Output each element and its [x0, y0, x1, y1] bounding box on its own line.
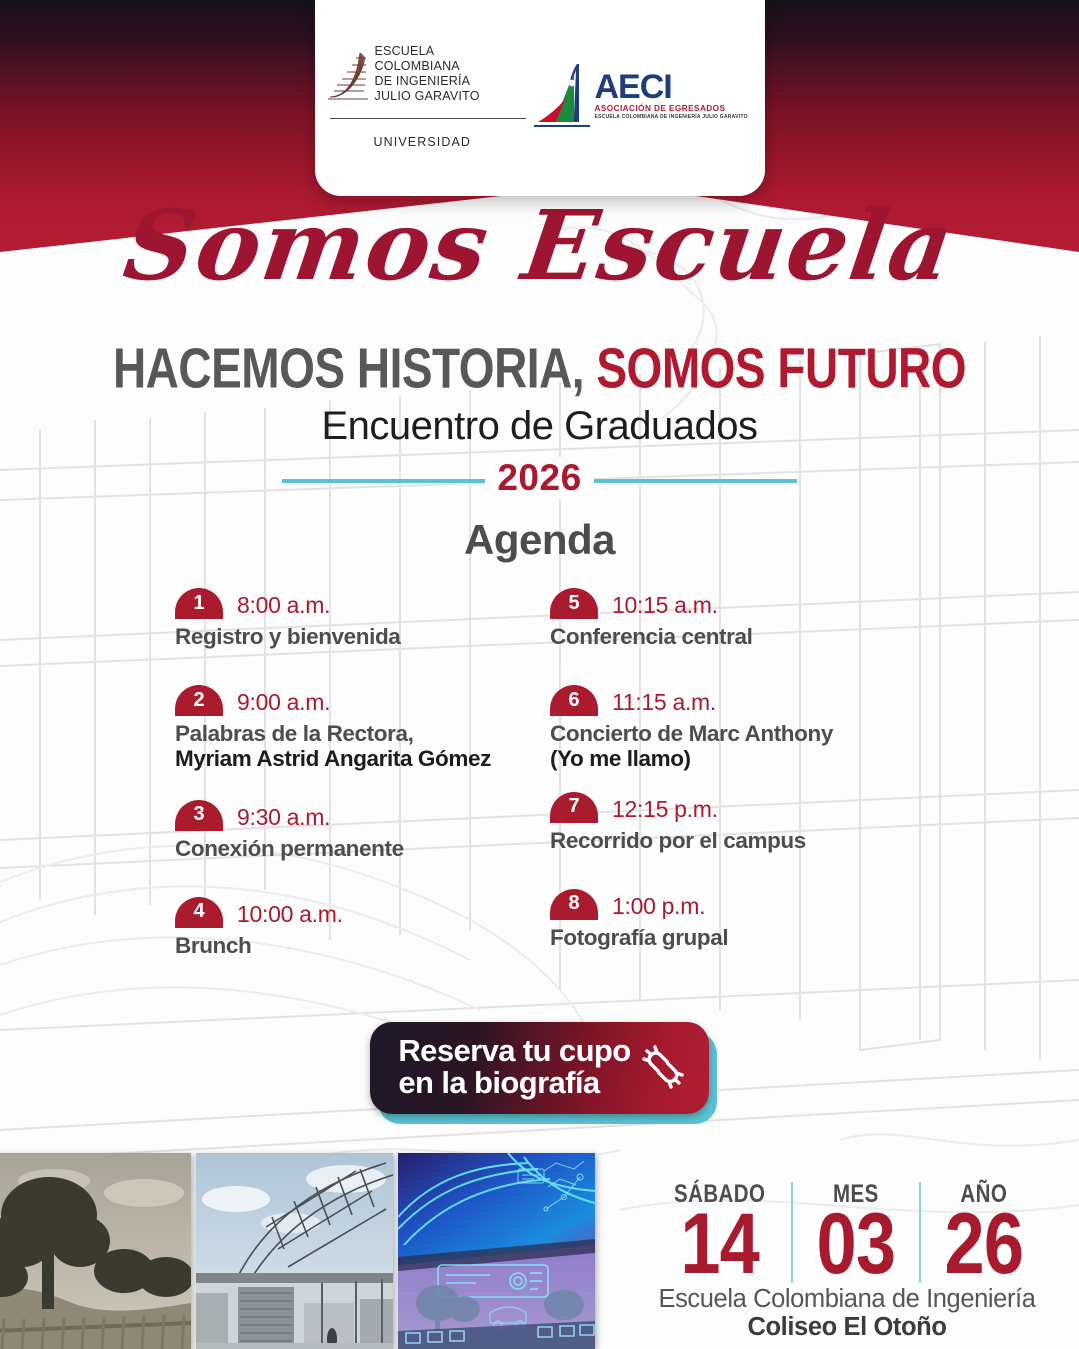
- agenda-column-right: 5 10:15 a.m. Conferencia central 6 11:15…: [550, 588, 909, 976]
- event-date-block: SÁBADO 14 MES 03 AÑO 26 Escuela Colombia…: [637, 1182, 1057, 1341]
- agenda-number-badge: 6: [550, 685, 598, 716]
- cta-label: Reserva tu cupo en la biografía: [398, 1035, 630, 1099]
- agenda-time: 10:00 a.m.: [237, 903, 343, 928]
- agenda-description: Fotografía grupal: [550, 925, 909, 950]
- agenda-description: Recorrido por el campus: [550, 828, 909, 853]
- photo-strip: [0, 1153, 595, 1349]
- date-year-value: 26: [944, 1207, 1023, 1283]
- date-year-column: AÑO 26: [919, 1182, 1047, 1283]
- event-subtitle: Encuentro de Graduados: [0, 404, 1079, 449]
- agenda-item: 6 11:15 a.m. Concierto de Marc Anthony (…: [550, 685, 909, 771]
- agenda-description: Concierto de Marc Anthony (Yo me llamo): [550, 721, 909, 771]
- aeci-figure-mark: [534, 60, 590, 132]
- date-day-value: 14: [673, 1207, 767, 1283]
- cta-line-2: en la biografía: [398, 1067, 630, 1099]
- uni-line-3: DE INGENIERÍA: [375, 74, 480, 89]
- agenda-number-badge: 2: [175, 685, 223, 716]
- agenda-number-badge: 3: [175, 800, 223, 831]
- agenda-heading: Agenda: [0, 516, 1079, 564]
- photo-campus-building: [196, 1153, 393, 1349]
- agenda-item: 5 10:15 a.m. Conferencia central: [550, 588, 909, 649]
- agenda-time: 11:15 a.m.: [612, 691, 716, 716]
- aeci-subtitle-1: ASOCIACIÓN DE EGRESADOS: [595, 104, 726, 113]
- link-chain-icon: [639, 1043, 687, 1091]
- poster-canvas: ESCUELA COLOMBIANA DE INGENIERÍA JULIO G…: [0, 0, 1079, 1349]
- university-divider: [330, 118, 526, 119]
- agenda-time: 9:30 a.m.: [237, 806, 330, 831]
- agenda-item: 3 9:30 a.m. Conexión permanente: [175, 800, 534, 861]
- agenda-description: Conexión permanente: [175, 836, 534, 861]
- agenda-description-line2: (Yo me llamo): [550, 746, 909, 771]
- aeci-subtitle-2: ESCUELA COLOMBIANA DE INGENIERÍA JULIO G…: [595, 114, 748, 120]
- event-year: 2026: [485, 457, 593, 499]
- agenda-description-line1: Concierto de Marc Anthony: [550, 721, 833, 746]
- agenda-description: Palabras de la Rectora, Myriam Astrid An…: [175, 721, 534, 771]
- photo-campus-tree-sepia: [0, 1153, 191, 1349]
- agenda-item: 1 8:00 a.m. Registro y bienvenida: [175, 588, 534, 649]
- cta-line-1: Reserva tu cupo: [398, 1033, 630, 1068]
- photo-campus-futuristic: [398, 1153, 595, 1349]
- agenda-number-badge: 1: [175, 588, 223, 619]
- cta-container: Reserva tu cupo en la biografía: [0, 1022, 1079, 1114]
- agenda-time: 8:00 a.m.: [237, 594, 330, 619]
- script-title: Somos Escuela: [0, 198, 1079, 294]
- agenda-description-line2: Myriam Astrid Angarita Gómez: [175, 746, 534, 771]
- agenda-list: 1 8:00 a.m. Registro y bienvenida 2 9:00…: [0, 588, 1079, 976]
- agenda-column-left: 1 8:00 a.m. Registro y bienvenida 2 9:00…: [175, 588, 534, 976]
- agenda-item: 4 10:00 a.m. Brunch: [175, 897, 534, 958]
- agenda-description: Registro y bienvenida: [175, 624, 534, 649]
- agenda-number-badge: 4: [175, 897, 223, 928]
- venue-place: Coliseo El Otoño: [637, 1313, 1057, 1341]
- agenda-description-line1: Palabras de la Rectora,: [175, 721, 413, 746]
- uni-line-2: COLOMBIANA: [375, 59, 480, 74]
- date-month-value: 03: [816, 1207, 895, 1283]
- agenda-time: 10:15 a.m.: [612, 594, 718, 619]
- aeci-logo: AECI ASOCIACIÓN DE EGRESADOS ESCUELA COL…: [534, 60, 752, 132]
- agenda-item: 2 9:00 a.m. Palabras de la Rectora, Myri…: [175, 685, 534, 771]
- escuela-curve-mark: [328, 47, 368, 105]
- headline-grey: HACEMOS HISTORIA,: [113, 336, 584, 399]
- agenda-number-badge: 7: [550, 792, 598, 823]
- agenda-description: Conferencia central: [550, 624, 909, 649]
- year-row: 2026: [0, 455, 1079, 501]
- university-name-block: ESCUELA COLOMBIANA DE INGENIERÍA JULIO G…: [375, 44, 480, 105]
- aeci-name: AECI: [595, 72, 672, 103]
- agenda-time: 1:00 p.m.: [612, 895, 705, 920]
- agenda-number-badge: 5: [550, 588, 598, 619]
- agenda-description: Brunch: [175, 933, 534, 958]
- agenda-number-badge: 8: [550, 889, 598, 920]
- logo-card: ESCUELA COLOMBIANA DE INGENIERÍA JULIO G…: [315, 0, 765, 196]
- reserve-spot-button[interactable]: Reserva tu cupo en la biografía: [370, 1022, 708, 1114]
- headline-red: SOMOS FUTURO: [596, 336, 966, 399]
- headline: HACEMOS HISTORIA, SOMOS FUTURO: [0, 340, 1079, 396]
- university-subtitle: UNIVERSIDAD: [374, 135, 472, 149]
- date-day-column: SÁBADO 14: [648, 1182, 791, 1283]
- university-logo: ESCUELA COLOMBIANA DE INGENIERÍA JULIO G…: [328, 44, 528, 149]
- agenda-item: 7 12:15 p.m. Recorrido por el campus: [550, 792, 909, 853]
- agenda-item: 8 1:00 p.m. Fotografía grupal: [550, 889, 909, 950]
- agenda-time: 9:00 a.m.: [237, 691, 330, 716]
- date-month-column: MES 03: [791, 1182, 919, 1283]
- uni-line-4: JULIO GARAVITO: [375, 89, 480, 104]
- uni-line-1: ESCUELA: [375, 44, 480, 59]
- agenda-time: 12:15 p.m.: [612, 798, 718, 823]
